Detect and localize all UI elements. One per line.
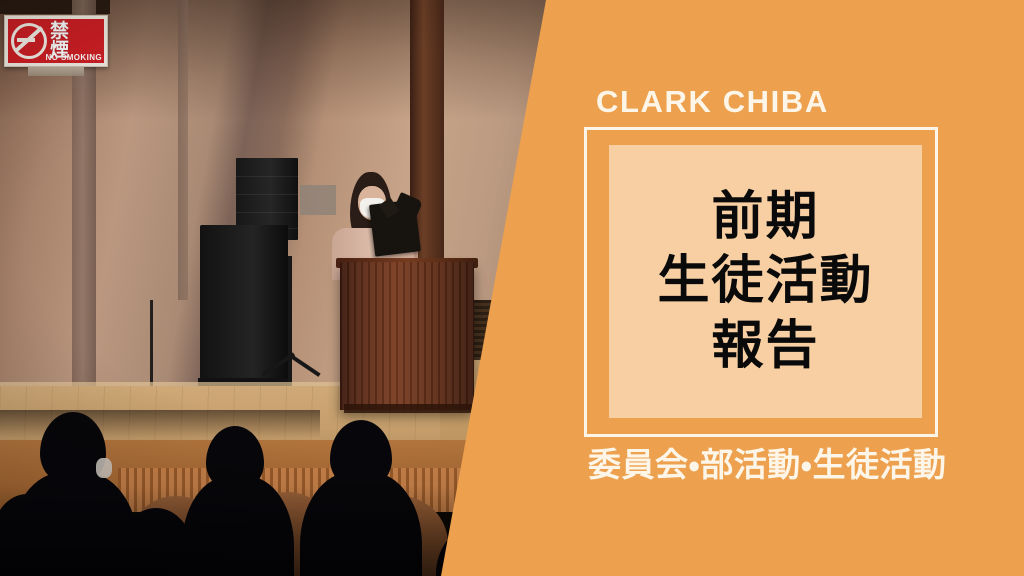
podium-grain	[340, 262, 474, 410]
sign-bracket	[28, 66, 84, 76]
wall-panel	[300, 185, 336, 215]
no-smoking-sign-face: 禁 煙 NO SMOKING	[8, 19, 104, 63]
title-plaque: 前期 生徒活動 報告	[609, 145, 922, 418]
brand-title: CLARK CHIBA	[596, 86, 829, 117]
wall-pillar-secondary	[178, 0, 188, 300]
no-smoking-icon	[11, 23, 47, 59]
no-smoking-sign-english: NO SMOKING	[46, 53, 102, 62]
no-smoking-sign: 禁 煙 NO SMOKING	[4, 15, 108, 67]
slide-canvas: 禁 煙 NO SMOKING	[0, 0, 1024, 576]
subtitle: 委員会・部活動・生徒活動	[588, 448, 938, 481]
podium-base	[344, 404, 472, 413]
title-line-1: 前期	[711, 186, 819, 248]
title-line-3: 報告	[711, 315, 819, 377]
title-line-2: 生徒活動	[657, 250, 873, 312]
podium	[340, 262, 474, 410]
audience-face-mask	[96, 458, 112, 478]
